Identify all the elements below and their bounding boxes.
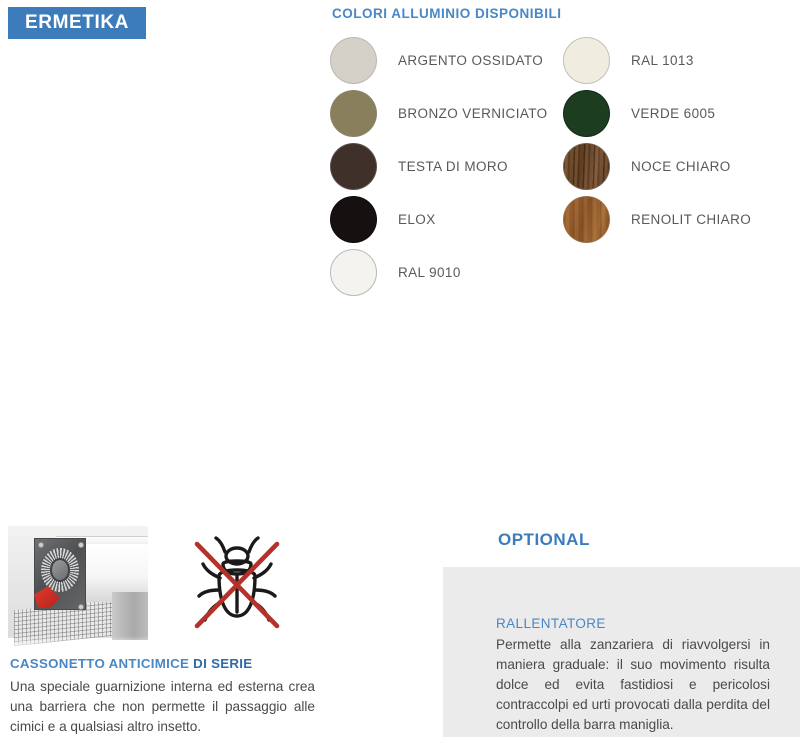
color-swatch-ral-9010[interactable] [330, 249, 377, 296]
screw-icon [78, 604, 84, 610]
red-cross-out [197, 544, 277, 626]
color-option[interactable]: BRONZO VERNICIATO [330, 87, 563, 140]
color-swatch-grid: ARGENTO OSSIDATO BRONZO VERNICIATO TESTA… [330, 34, 796, 299]
feature-title-strong: DI SERIE [193, 656, 252, 671]
screw-icon [78, 542, 84, 548]
feature-media-row [10, 518, 322, 650]
color-label: ARGENTO OSSIDATO [398, 53, 543, 68]
color-column-left: ARGENTO OSSIDATO BRONZO VERNICIATO TESTA… [330, 34, 563, 299]
screw-icon [38, 542, 44, 548]
color-label: NOCE CHIARO [631, 159, 731, 174]
color-option[interactable]: RAL 1013 [563, 34, 796, 87]
cassonetto-product-photo [8, 518, 148, 650]
color-label: TESTA DI MORO [398, 159, 508, 174]
color-swatch-renolit-chiaro[interactable] [563, 196, 610, 243]
brand-logo: ERMETIKA [8, 7, 146, 39]
optional-heading: OPTIONAL [498, 530, 800, 550]
color-option[interactable]: RENOLIT CHIARO [563, 193, 796, 246]
feature-title-regular: CASSONETTO ANTICIMICE [10, 656, 193, 671]
color-label: RAL 9010 [398, 265, 461, 280]
feature-cassonetto-anticimice: CASSONETTO ANTICIMICE DI SERIE Una speci… [10, 518, 322, 737]
color-option[interactable]: ARGENTO OSSIDATO [330, 34, 563, 87]
color-label: RAL 1013 [631, 53, 694, 68]
color-option[interactable]: TESTA DI MORO [330, 140, 563, 193]
color-option[interactable]: ELOX [330, 193, 563, 246]
colors-section-title: COLORI ALLUMINIO DISPONIBILI [332, 6, 796, 21]
photo-bottom-fade [8, 636, 148, 650]
coil-hub [50, 558, 70, 582]
color-label: ELOX [398, 212, 436, 227]
wood-grain-texture [564, 144, 609, 189]
color-swatch-verde-6005[interactable] [563, 90, 610, 137]
feature-title: CASSONETTO ANTICIMICE DI SERIE [10, 656, 322, 671]
brand-name: ERMETIKA [25, 12, 129, 34]
color-swatch-noce-chiaro[interactable] [563, 143, 610, 190]
color-swatch-argento-ossidato[interactable] [330, 37, 377, 84]
color-label: RENOLIT CHIARO [631, 212, 751, 227]
color-swatch-ral-1013[interactable] [563, 37, 610, 84]
no-bug-icon [182, 518, 292, 650]
optional-section: OPTIONAL RALLENTATORE Permette alla zanz… [443, 530, 800, 737]
cassonetto-side-panel [112, 592, 148, 640]
color-option[interactable]: NOCE CHIARO [563, 140, 796, 193]
optional-item-title: RALLENTATORE [496, 616, 770, 631]
feature-caption: CASSONETTO ANTICIMICE DI SERIE Una speci… [10, 656, 322, 737]
color-swatch-bronzo-verniciato[interactable] [330, 90, 377, 137]
colors-section: COLORI ALLUMINIO DISPONIBILI ARGENTO OSS… [330, 6, 796, 299]
color-label: VERDE 6005 [631, 106, 715, 121]
color-option[interactable]: VERDE 6005 [563, 87, 796, 140]
feature-description: Una speciale guarnizione interna ed este… [10, 677, 315, 737]
color-label: BRONZO VERNICIATO [398, 106, 548, 121]
optional-item-description: Permette alla zanzariera di riavvolgersi… [496, 635, 770, 735]
color-option[interactable]: RAL 9010 [330, 246, 563, 299]
wood-grain-texture [564, 197, 609, 242]
color-swatch-testa-di-moro[interactable] [330, 143, 377, 190]
color-column-right: RAL 1013 VERDE 6005 NOCE CHIARO RENOLIT … [563, 34, 796, 299]
optional-panel: RALLENTATORE Permette alla zanzariera di… [443, 567, 800, 737]
color-swatch-elox[interactable] [330, 196, 377, 243]
